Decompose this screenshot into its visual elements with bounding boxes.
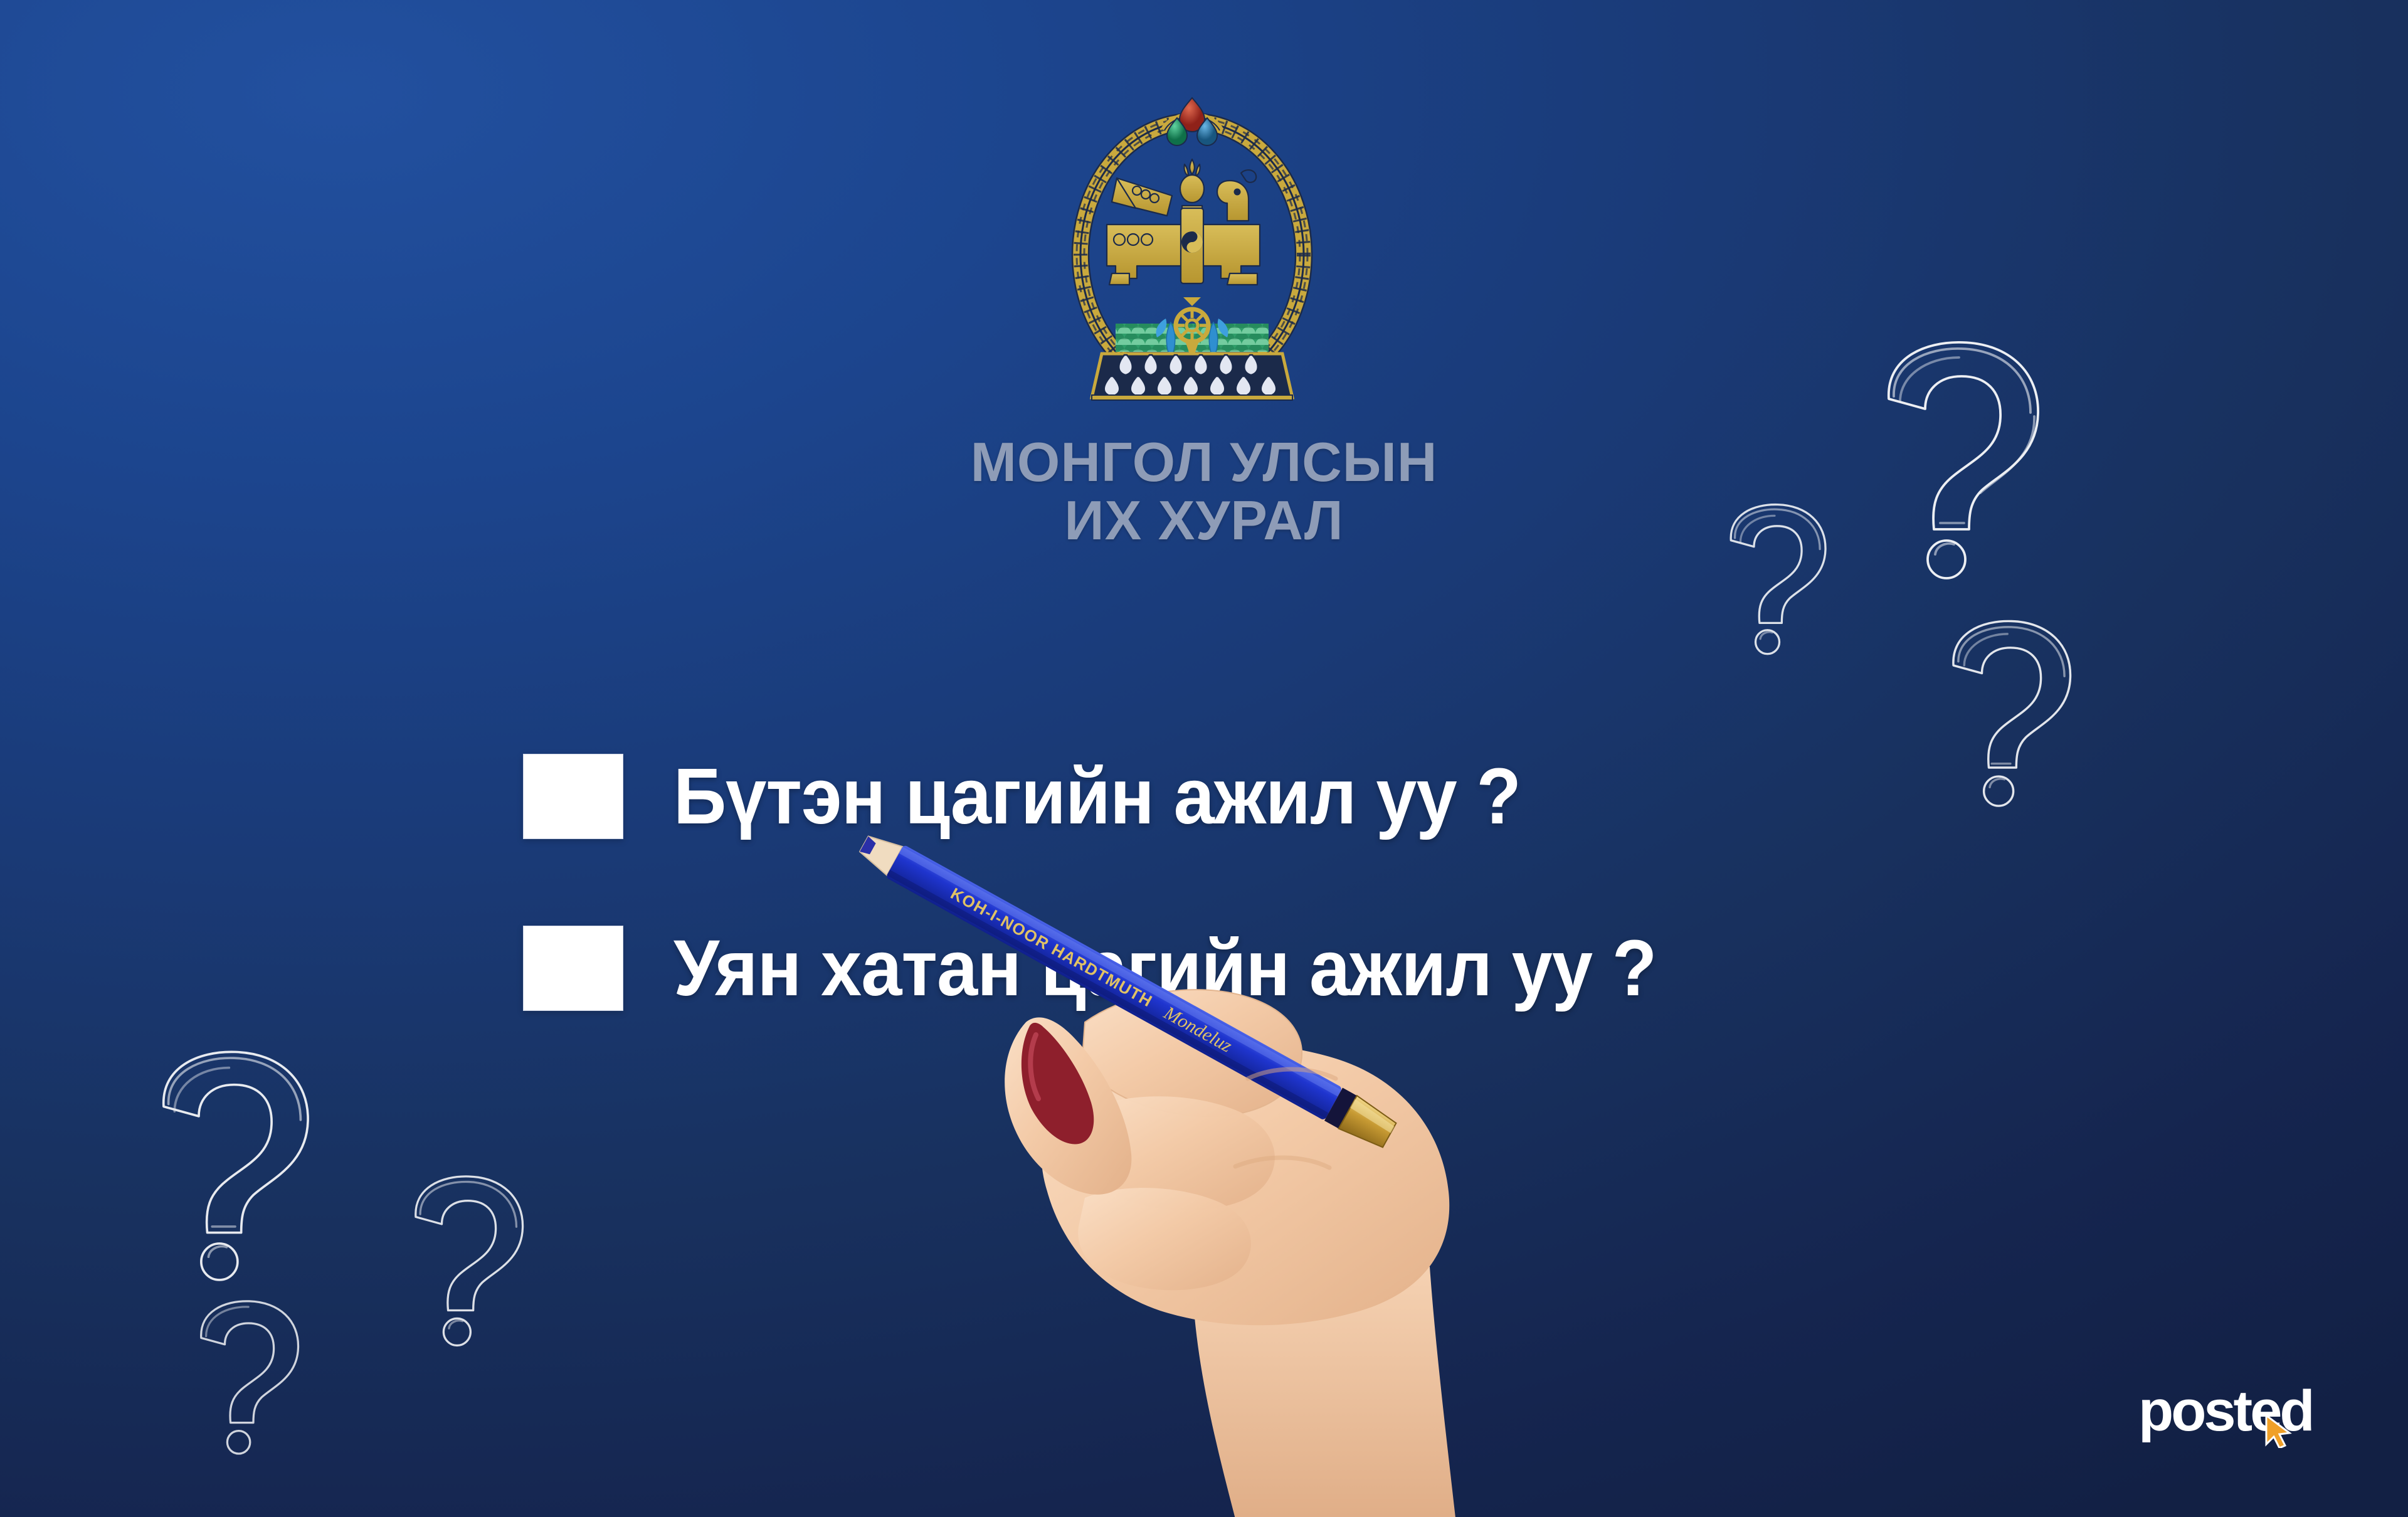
posted-logo[interactable]: posted xyxy=(2138,1379,2339,1448)
state-emblem-icon xyxy=(1042,85,1343,418)
org-title-line2: ИХ ХУРАЛ xyxy=(0,491,2408,549)
question-mark-icon xyxy=(144,1047,326,1292)
ring-finger xyxy=(1078,1188,1251,1290)
mongolian-state-emblem xyxy=(1042,85,1343,418)
forearm xyxy=(1191,1254,1461,1517)
checkbox-flexible[interactable] xyxy=(523,926,623,1011)
poll-option-row[interactable]: Бүтэн цагийн ажил уу ? xyxy=(523,750,2216,843)
poster-canvas: МОНГОЛ УЛСЫН ИХ ХУРАЛ Бүтэн цагийн ажил … xyxy=(0,0,2408,1517)
poll-option-label: Бүтэн цагийн ажил уу ? xyxy=(673,757,1521,836)
question-mark-icon xyxy=(188,1298,310,1462)
thumb xyxy=(1005,1017,1131,1194)
poll-option-label: Уян хатан цагийн ажил уу ? xyxy=(673,929,1656,1008)
emblem-horse-soyombo xyxy=(1107,159,1260,285)
thumb-nail xyxy=(1022,1023,1094,1144)
page-title: МОНГОЛ УЛСЫН ИХ ХУРАЛ xyxy=(0,433,2408,550)
checkbox-full-time[interactable] xyxy=(523,754,623,839)
hand-palm xyxy=(1041,1041,1449,1325)
posted-wordmark: posted xyxy=(2138,1379,2339,1448)
poll-option-row[interactable]: Уян хатан цагийн ажил уу ? xyxy=(523,922,2216,1015)
question-mark-icon xyxy=(401,1173,536,1355)
middle-finger xyxy=(1077,1096,1274,1210)
emblem-lotus-base xyxy=(1092,354,1292,400)
poll-options: Бүтэн цагийн ажил уу ? Уян хатан цагийн … xyxy=(523,750,2216,1015)
org-title-line1: МОНГОЛ УЛСЫН xyxy=(971,431,1438,493)
emblem-jewels xyxy=(1164,98,1220,145)
